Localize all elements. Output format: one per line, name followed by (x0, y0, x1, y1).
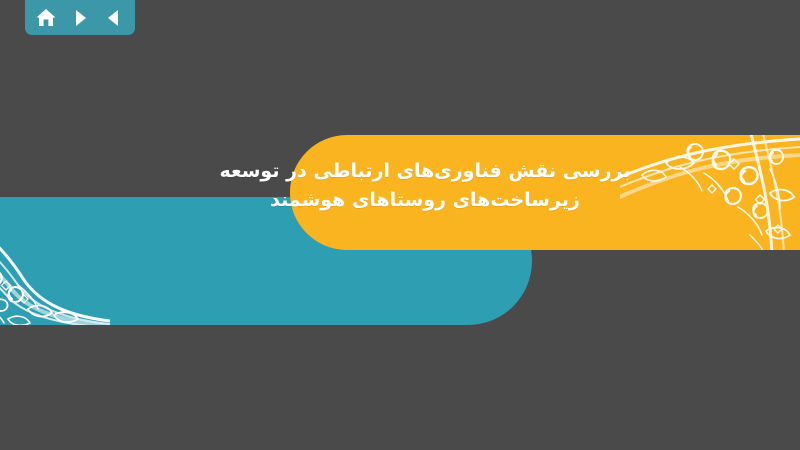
banner-ornament (620, 135, 800, 250)
next-slide-button[interactable] (67, 5, 93, 31)
navigation-bar (25, 0, 135, 35)
home-icon (35, 7, 57, 29)
previous-slide-button[interactable] (101, 5, 127, 31)
title-banner: بررسی نقش فناوری‌های ارتباطی در توسعه زی… (290, 135, 800, 250)
slide-canvas: بررسی نقش فناوری‌های ارتباطی در توسعه زی… (0, 0, 800, 450)
page-title: بررسی نقش فناوری‌های ارتباطی در توسعه زی… (215, 157, 635, 216)
home-button[interactable] (33, 5, 59, 31)
title-line-2: زیرساخت‌های روستاهای هوشمند (215, 186, 635, 215)
triangle-right-icon (70, 8, 90, 28)
title-line-1: بررسی نقش فناوری‌های ارتباطی در توسعه (215, 157, 635, 186)
teal-panel-ornament (0, 197, 110, 325)
triangle-left-icon (104, 8, 124, 28)
